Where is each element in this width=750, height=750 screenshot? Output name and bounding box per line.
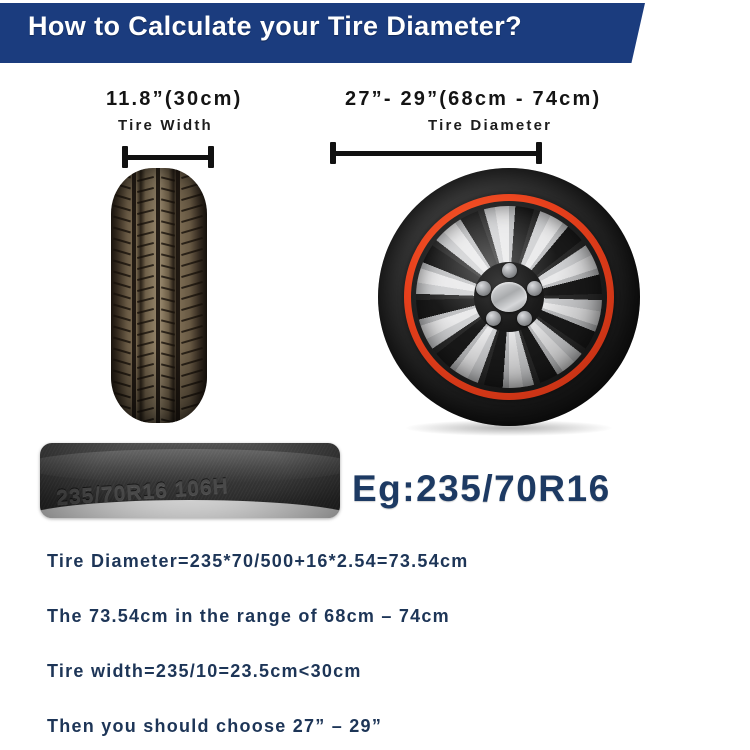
tread-shading — [111, 168, 207, 423]
tire-diameter-value: 27”- 29”(68cm - 74cm) — [345, 88, 601, 111]
calculation-line-4: Then you should choose 27” – 29” — [47, 716, 382, 737]
wheel-drop-shadow — [406, 420, 612, 436]
wheel-image — [378, 168, 640, 426]
example-heading: Eg:235/70R16 — [352, 468, 611, 510]
calculation-line-3: Tire width=235/10=23.5cm<30cm — [47, 661, 362, 682]
width-dimension-bar-icon — [122, 146, 214, 168]
calculation-line-2: The 73.54cm in the range of 68cm – 74cm — [47, 606, 450, 627]
sidewall-vignette — [40, 443, 340, 518]
infographic-page: How to Calculate your Tire Diameter? 11.… — [0, 0, 750, 750]
tire-diameter-label: Tire Diameter — [428, 117, 552, 134]
tire-width-label: Tire Width — [118, 117, 213, 134]
tire-width-value: 11.8”(30cm) — [106, 88, 243, 111]
tire-sidewall-photo: 235/70R16 106H — [40, 443, 340, 518]
dimension-rule — [330, 151, 542, 156]
dimension-end-cap-right — [536, 142, 542, 164]
center-cap-icon — [491, 282, 527, 312]
page-title: How to Calculate your Tire Diameter? — [28, 11, 522, 42]
tire-tread-image — [111, 168, 207, 423]
calculation-line-1: Tire Diameter=235*70/500+16*2.54=73.54cm — [47, 551, 468, 572]
dimension-rule — [122, 155, 214, 160]
diameter-dimension-bar-icon — [330, 142, 542, 164]
dimension-end-cap-right — [208, 146, 214, 168]
